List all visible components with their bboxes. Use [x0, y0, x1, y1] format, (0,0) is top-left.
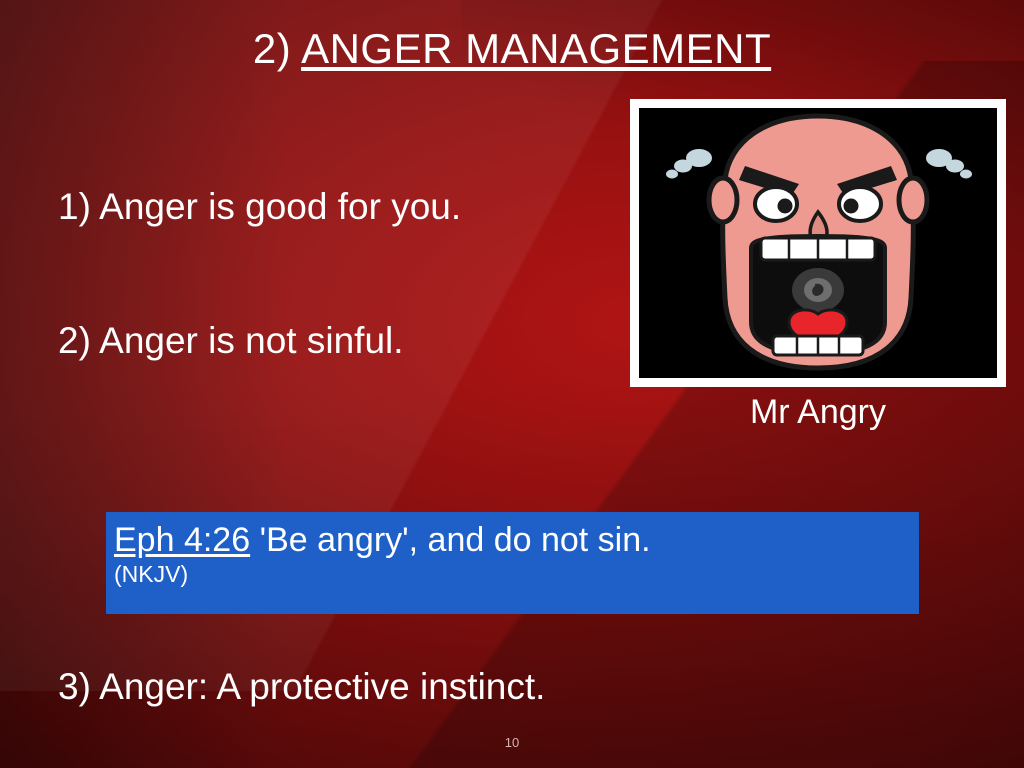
angry-face-image	[639, 108, 997, 378]
pupil-left-icon	[778, 199, 793, 214]
scripture-highlight-box: Eph 4:26 'Be angry', and do not sin. (NK…	[106, 512, 919, 614]
page-number: 10	[0, 735, 1024, 750]
ear-right-icon	[899, 178, 927, 222]
uvula-icon	[792, 268, 844, 312]
pupil-right-icon	[844, 199, 859, 214]
steam-right-icon	[926, 149, 972, 179]
scripture-version: (NKJV)	[114, 561, 919, 587]
scripture-line: Eph 4:26 'Be angry', and do not sin.	[114, 520, 919, 561]
ear-left-icon	[709, 178, 737, 222]
slide-title-prefix: 2)	[253, 25, 301, 72]
image-caption: Mr Angry	[630, 393, 1006, 432]
angry-face-image-frame	[630, 99, 1006, 387]
angry-cartoon-face-icon	[639, 108, 997, 378]
upper-teeth-icon	[761, 238, 875, 260]
slide-title: 2) ANGER MANAGEMENT	[0, 26, 1024, 72]
bullet-line-3: 3) Anger: A protective instinct.	[58, 666, 545, 709]
scripture-text: 'Be angry', and do not sin.	[250, 521, 650, 559]
bullet-line-1: 1) Anger is good for you.	[58, 186, 461, 229]
scripture-reference: Eph 4:26	[114, 521, 250, 559]
steam-left-icon	[666, 149, 712, 179]
slide: 2) ANGER MANAGEMENT 1) Anger is good for…	[0, 0, 1024, 768]
slide-title-main: ANGER MANAGEMENT	[301, 25, 771, 72]
bullet-line-2: 2) Anger is not sinful.	[58, 320, 404, 363]
lower-teeth-icon	[773, 336, 863, 355]
